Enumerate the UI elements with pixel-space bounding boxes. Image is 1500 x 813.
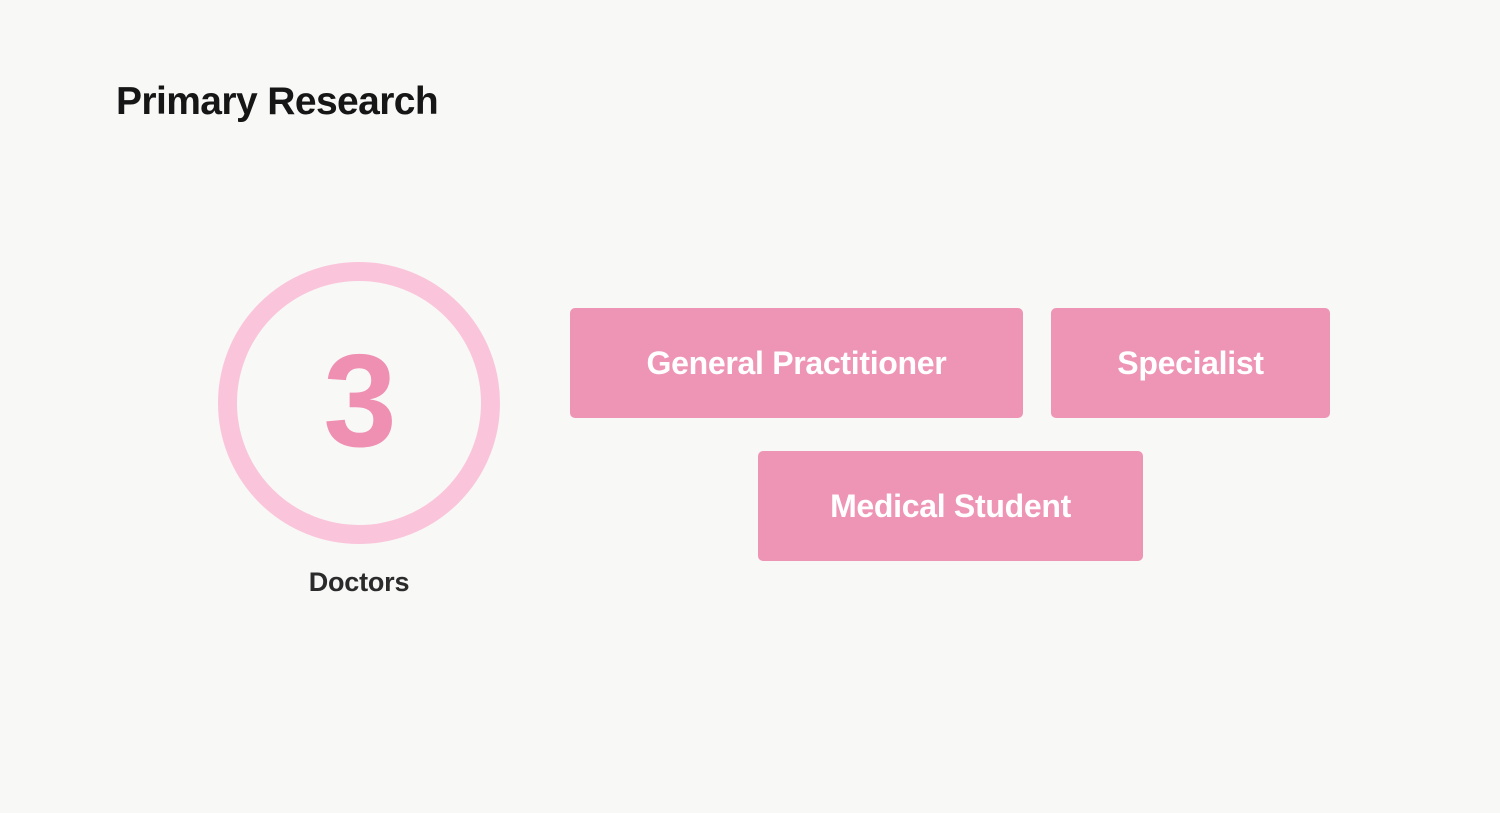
slide-canvas: Primary Research 3 Doctors General Pract…	[0, 0, 1500, 813]
stat-ring-wrapper: 3	[218, 262, 500, 544]
page-title: Primary Research	[116, 80, 438, 124]
category-box-label: Specialist	[1117, 345, 1263, 381]
category-box-specialist[interactable]: Specialist	[1051, 308, 1330, 418]
stat-value: 3	[218, 262, 500, 544]
stat-doctors: 3 Doctors	[218, 262, 500, 597]
category-box-medical-student[interactable]: Medical Student	[758, 451, 1143, 561]
category-box-general-practitioner[interactable]: General Practitioner	[570, 308, 1023, 418]
category-box-label: General Practitioner	[647, 345, 947, 381]
stat-label: Doctors	[218, 567, 500, 597]
category-box-label: Medical Student	[830, 488, 1071, 524]
